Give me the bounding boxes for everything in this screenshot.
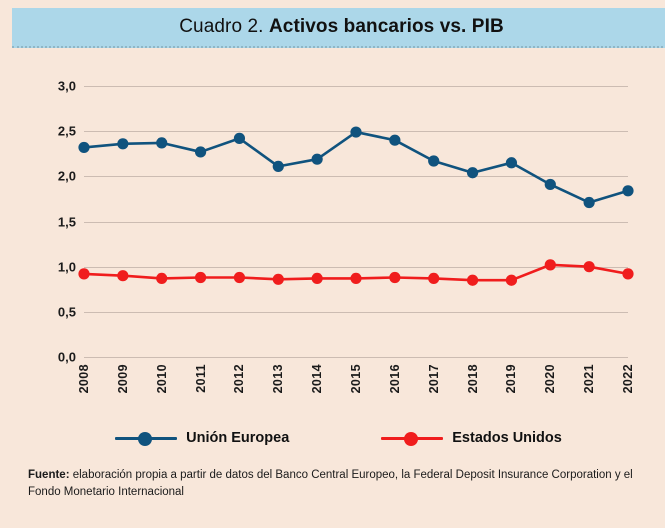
legend-label: Estados Unidos: [452, 430, 562, 446]
plot-area: 0,00,51,01,52,02,53,0 200820092010201120…: [6, 52, 665, 432]
data-point: [273, 161, 284, 172]
legend-marker-icon: [115, 431, 177, 445]
data-point: [312, 273, 323, 284]
data-point: [622, 268, 633, 279]
legend-label: Unión Europea: [186, 430, 289, 446]
data-point: [234, 133, 245, 144]
x-axis-tick-label: 2011: [194, 364, 208, 393]
x-axis-tick-label: 2008: [77, 364, 91, 393]
legend-marker-icon: [381, 431, 443, 445]
data-point: [312, 154, 323, 165]
data-point: [584, 261, 595, 272]
x-axis-tick-label: 2018: [466, 364, 480, 393]
x-axis-tick-label: 2017: [427, 364, 441, 393]
data-point: [389, 135, 400, 146]
chart-title-main: Activos bancarios vs. PIB: [269, 16, 504, 37]
data-point: [506, 157, 517, 168]
x-axis-labels: 2008200920102011201220132014201520162017…: [84, 364, 628, 424]
footnote-source-label: Fuente:: [28, 469, 70, 481]
y-axis-tick-label: 2,0: [58, 169, 76, 184]
y-axis-tick-label: 1,0: [58, 259, 76, 274]
y-axis-tick-label: 2,5: [58, 124, 76, 139]
data-point: [350, 273, 361, 284]
data-point: [584, 197, 595, 208]
x-axis-tick-label: 2009: [116, 364, 130, 393]
chart-title: Cuadro 2. Activos bancarios vs. PIB: [179, 16, 504, 38]
data-point: [350, 126, 361, 137]
data-point: [117, 270, 128, 281]
data-point: [156, 273, 167, 284]
series-layer: [84, 86, 628, 357]
x-axis-tick-label: 2019: [504, 364, 518, 393]
data-point: [78, 142, 89, 153]
data-point: [545, 259, 556, 270]
data-point: [389, 272, 400, 283]
y-axis-tick-label: 1,5: [58, 214, 76, 229]
data-point: [428, 273, 439, 284]
y-axis-tick-label: 0,0: [58, 350, 76, 365]
data-point: [467, 167, 478, 178]
data-point: [195, 146, 206, 157]
x-axis-tick-label: 2021: [582, 364, 596, 393]
chart-footnote: Fuente: elaboración propia a partir de d…: [28, 467, 648, 500]
data-point: [117, 138, 128, 149]
data-point: [273, 274, 284, 285]
y-axis-tick-label: 0,5: [58, 304, 76, 319]
x-axis-tick-label: 2014: [310, 364, 324, 393]
data-point: [234, 272, 245, 283]
chart-figure: Cuadro 2. Activos bancarios vs. PIB 0,00…: [0, 0, 665, 528]
series-estados-unidos: [78, 259, 633, 286]
x-axis-tick-label: 2015: [349, 364, 363, 393]
data-point: [622, 185, 633, 196]
chart-legend: Unión EuropeaEstados Unidos: [6, 422, 665, 454]
data-point: [467, 275, 478, 286]
data-point: [506, 275, 517, 286]
x-axis-tick-label: 2020: [543, 364, 557, 393]
y-axis-tick-label: 3,0: [58, 79, 76, 94]
data-point: [428, 155, 439, 166]
x-axis-tick-label: 2012: [232, 364, 246, 393]
data-point: [156, 137, 167, 148]
chart-header-band: Cuadro 2. Activos bancarios vs. PIB: [12, 8, 665, 48]
footnote-text: elaboración propia a partir de datos del…: [28, 469, 633, 498]
x-axis-tick-label: 2013: [271, 364, 285, 393]
data-point: [195, 272, 206, 283]
x-axis-tick-label: 2022: [621, 364, 635, 393]
data-point: [78, 268, 89, 279]
series-uni-n-europea: [78, 126, 633, 208]
x-axis-tick-label: 2016: [388, 364, 402, 393]
legend-item[interactable]: Unión Europea: [115, 430, 289, 446]
chart-title-label: Cuadro 2.: [179, 16, 263, 37]
x-axis-tick-label: 2010: [155, 364, 169, 393]
legend-item[interactable]: Estados Unidos: [381, 430, 562, 446]
data-point: [545, 179, 556, 190]
gridline: [84, 357, 628, 358]
